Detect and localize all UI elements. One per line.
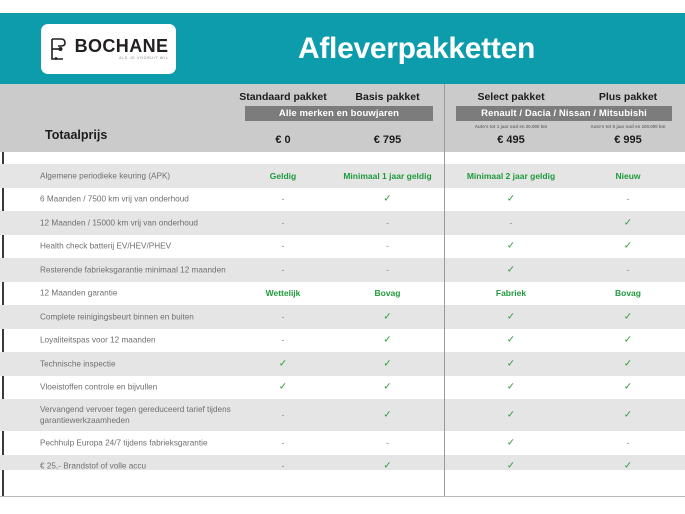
cell-text: Wettelijk	[238, 288, 328, 298]
cell-check: ✓	[452, 382, 570, 393]
row-label: Loyaliteitspas voor 12 maanden	[40, 335, 255, 346]
brandbar-alle-merken: Alle merken en bouwjaren	[245, 106, 433, 121]
fineprint-plus: Auto's tot 5 jaar oud en 100.000 km	[578, 124, 678, 129]
row-accent-tick	[2, 376, 4, 400]
comparison-table: Algemene periodieke keuring (APK)GeldigM…	[0, 164, 685, 478]
column-header-basis: Basis pakket	[340, 91, 435, 103]
row-label: 12 Maanden garantie	[40, 288, 255, 299]
brandbar-renault-dacia-nissan-mitsubishi: Renault / Dacia / Nissan / Mitsubishi	[456, 106, 672, 121]
table-row: Complete reinigingsbeurt binnen en buite…	[0, 305, 685, 329]
cell-check: ✓	[452, 437, 570, 448]
column-header-plus: Plus pakket	[578, 91, 678, 103]
cell-dash: -	[578, 194, 678, 204]
row-accent-tick	[2, 188, 4, 212]
row-accent-tick	[2, 282, 4, 306]
row-accent-tick	[2, 152, 4, 164]
cell-check: ✓	[452, 410, 570, 421]
cell-check: ✓	[578, 358, 678, 369]
totaalprijs-label: Totaalprijs	[45, 128, 107, 142]
logo-tagline: ALS JE VOORUIT WIL	[119, 57, 168, 61]
row-accent-tick	[2, 329, 4, 353]
cell-check: ✓	[340, 410, 435, 421]
table-bottom-border	[0, 496, 685, 497]
cell-dash: -	[340, 241, 435, 251]
row-label: Technische inspectie	[40, 358, 255, 369]
table-row: Algemene periodieke keuring (APK)GeldigM…	[0, 164, 685, 188]
cell-dash: -	[238, 410, 328, 420]
cell-check: ✓	[578, 410, 678, 421]
logo-wordmark: BOCHANE	[75, 37, 169, 55]
cell-text: Nieuw	[578, 171, 678, 181]
table-row: 6 Maanden / 7500 km vrij van onderhoud-✓…	[0, 188, 685, 212]
cell-check: ✓	[452, 194, 570, 205]
page-banner: BOCHANE ALS JE VOORUIT WIL Afleverpakket…	[0, 13, 685, 84]
row-label: 6 Maanden / 7500 km vrij van onderhoud	[40, 194, 255, 205]
footer-accent-tick	[2, 470, 4, 497]
cell-dash: -	[238, 241, 328, 251]
fineprint-select: Auto's tot 1 jaar oud en 20.000 km	[452, 124, 570, 129]
table-row: 12 Maanden garantieWettelijkBovagFabriek…	[0, 282, 685, 306]
row-label: Complete reinigingsbeurt binnen en buite…	[40, 311, 255, 322]
cell-dash: -	[238, 218, 328, 228]
cell-check: ✓	[578, 382, 678, 393]
cell-check: ✓	[578, 335, 678, 346]
cell-dash: -	[340, 218, 435, 228]
table-row: 12 Maanden / 15000 km vrij van onderhoud…	[0, 211, 685, 235]
cell-check: ✓	[452, 358, 570, 369]
price-standaard: € 0	[238, 134, 328, 146]
row-label: Pechhulp Europa 24/7 tijdens fabrieksgar…	[40, 437, 255, 448]
row-label: Vloeistoffen controle en bijvullen	[40, 382, 255, 393]
table-footer-row	[0, 470, 685, 496]
cell-check: ✓	[452, 241, 570, 252]
bochane-mark-icon	[49, 37, 69, 61]
table-row: Resterende fabrieksgarantie minimaal 12 …	[0, 258, 685, 282]
cell-check: ✓	[340, 335, 435, 346]
cell-text: Minimaal 2 jaar geldig	[452, 171, 570, 181]
cell-dash: -	[340, 438, 435, 448]
table-row: Vervangend vervoer tegen gereduceerd tar…	[0, 399, 685, 431]
cell-dash: -	[238, 194, 328, 204]
table-row: Loyaliteitspas voor 12 maanden-✓✓✓	[0, 329, 685, 353]
group-divider	[444, 84, 445, 497]
cell-dash: -	[238, 335, 328, 345]
cell-text: Fabriek	[452, 288, 570, 298]
row-accent-tick	[2, 235, 4, 259]
cell-dash: -	[238, 312, 328, 322]
cell-check: ✓	[578, 241, 678, 252]
price-basis: € 795	[340, 134, 435, 146]
cell-dash: -	[578, 438, 678, 448]
price-plus: € 995	[578, 134, 678, 146]
header-spacer-row	[0, 152, 685, 164]
page-title: Afleverpakketten	[176, 32, 685, 66]
cell-check: ✓	[340, 358, 435, 369]
price-select: € 495	[452, 134, 570, 146]
cell-dash: -	[452, 218, 570, 228]
column-header-standaard: Standaard pakket	[238, 91, 328, 103]
row-label: Health check batterij EV/HEV/PHEV	[40, 241, 255, 252]
row-accent-tick	[2, 431, 4, 455]
cell-text: Bovag	[578, 288, 678, 298]
cell-check: ✓	[452, 311, 570, 322]
row-label: 12 Maanden / 15000 km vrij van onderhoud	[40, 217, 255, 228]
cell-check: ✓	[452, 335, 570, 346]
bochane-logo: BOCHANE ALS JE VOORUIT WIL	[41, 24, 176, 74]
cell-check: ✓	[238, 358, 328, 369]
cell-dash: -	[238, 265, 328, 275]
row-label: Resterende fabrieksgarantie minimaal 12 …	[40, 264, 255, 275]
cell-check: ✓	[578, 311, 678, 322]
cell-check: ✓	[452, 264, 570, 275]
row-label: Algemene periodieke keuring (APK)	[40, 170, 255, 181]
row-label: Vervangend vervoer tegen gereduceerd tar…	[40, 404, 255, 426]
cell-check: ✓	[340, 382, 435, 393]
table-row: Pechhulp Europa 24/7 tijdens fabrieksgar…	[0, 431, 685, 455]
cell-text: Bovag	[340, 288, 435, 298]
cell-text: Geldig	[238, 171, 328, 181]
cell-dash: -	[578, 265, 678, 275]
table-row: Vloeistoffen controle en bijvullen✓✓✓✓	[0, 376, 685, 400]
table-row: Health check batterij EV/HEV/PHEV--✓✓	[0, 235, 685, 259]
column-header-select: Select pakket	[452, 91, 570, 103]
cell-dash: -	[238, 438, 328, 448]
cell-check: ✓	[578, 217, 678, 228]
afleverpakketten-page: BOCHANE ALS JE VOORUIT WIL Afleverpakket…	[0, 0, 685, 514]
cell-check: ✓	[340, 194, 435, 205]
cell-dash: -	[340, 265, 435, 275]
cell-text: Minimaal 1 jaar geldig	[340, 171, 435, 181]
table-row: Technische inspectie✓✓✓✓	[0, 352, 685, 376]
cell-check: ✓	[340, 311, 435, 322]
cell-check: ✓	[238, 382, 328, 393]
